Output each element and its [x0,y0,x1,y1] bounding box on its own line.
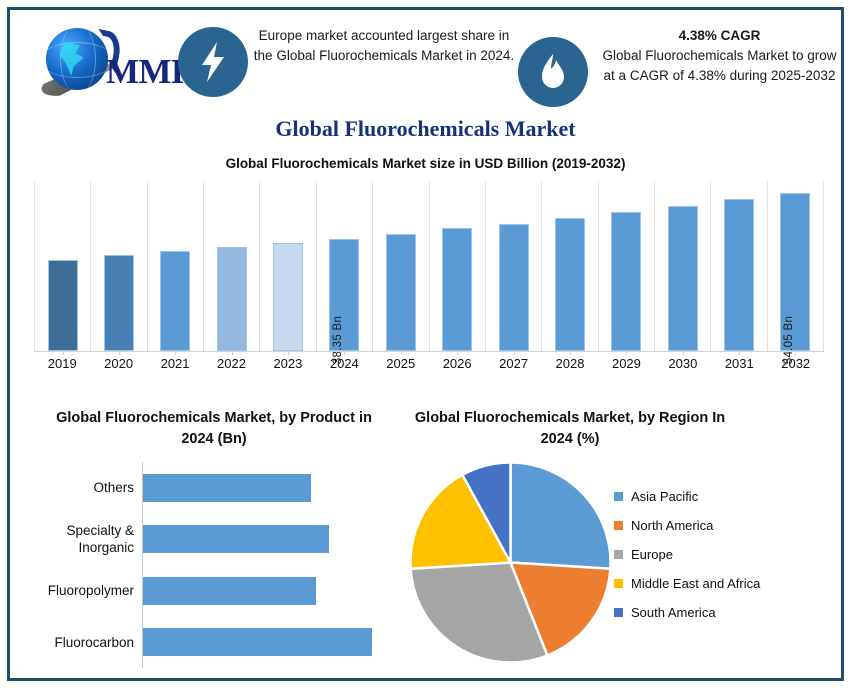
legend-label: North America [631,518,713,533]
bar-slot [654,181,710,351]
bar-x-tick-label: 2025 [373,356,429,378]
bar-slot [34,181,90,351]
legend-label: Europe [631,547,673,562]
product-bar-row: Fluorocarbon [143,628,372,656]
bar-slot [485,181,541,351]
bar[interactable] [217,247,247,351]
header: MMR Europe market accounted largest shar… [10,10,841,110]
product-bar-chart: OthersSpecialty & InorganicFluoropolymer… [142,462,392,668]
bar-slot: 54.05 Bn [767,181,824,351]
legend-label: South America [631,605,716,620]
bar-x-tick-label: 2031 [711,356,767,378]
bar-x-tick-label: 2028 [542,356,598,378]
region-legend: Asia PacificNorth AmericaEuropeMiddle Ea… [614,482,829,627]
bar[interactable] [386,234,416,351]
pie-slice[interactable] [511,463,611,569]
bar-x-tick-label: 2027 [485,356,541,378]
bar-slot [598,181,654,351]
bar[interactable] [555,218,585,351]
product-category-label: Others [24,479,134,496]
bar[interactable] [104,255,134,351]
bar-slot [372,181,428,351]
product-category-label: Fluoropolymer [24,582,134,599]
bar-slot [541,181,597,351]
bar-slot [429,181,485,351]
bar[interactable] [160,251,190,351]
market-size-bar-chart: 38.35 Bn54.05 Bn [34,180,824,352]
cagr-headline: 4.38% CAGR [598,26,841,46]
product-bar-row: Specialty & Inorganic [143,525,329,553]
legend-swatch-icon [614,521,623,530]
bar-slot [203,181,259,351]
bar-slot: 38.35 Bn [316,181,372,351]
region-chart-title: Global Fluorochemicals Market, by Region… [410,408,730,450]
bar-x-tick-label: 2032 [767,356,823,378]
legend-label: Asia Pacific [631,489,698,504]
bar-x-tick-label: 2022 [203,356,259,378]
legend-swatch-icon [614,492,623,501]
bar-slot [710,181,766,351]
bar-chart-x-labels: 2019202020212022202320242025202620272028… [34,356,824,378]
globe-landmass-icon [58,42,88,76]
product-category-label: Specialty & Inorganic [24,522,134,556]
legend-label: Middle East and Africa [631,576,760,591]
header-note-left: Europe market accounted largest share in… [253,26,515,66]
bar-chart-title: Global Fluorochemicals Market size in US… [10,156,841,171]
bar-x-tick-label: 2019 [34,356,90,378]
bar-x-tick-label: 2030 [655,356,711,378]
bar[interactable]: 38.35 Bn [329,239,359,351]
region-pie-chart [408,460,613,665]
mmr-logo: MMR [18,18,173,98]
bar-slot [147,181,203,351]
product-bar[interactable] [143,474,311,502]
bar-x-tick-label: 2026 [429,356,485,378]
bar-x-tick-label: 2024 [316,356,372,378]
cagr-description: Global Fluorochemicals Market to grow at… [602,48,836,83]
lightning-bolt-icon [178,27,248,97]
bar-chart-axis [34,351,824,352]
header-note-right: 4.38% CAGR Global Fluorochemicals Market… [598,26,841,86]
legend-item[interactable]: North America [614,511,829,540]
legend-item[interactable]: Middle East and Africa [614,569,829,598]
bar[interactable] [499,224,529,352]
bar[interactable] [48,260,78,351]
product-bar[interactable] [143,525,329,553]
bar-x-tick-label: 2020 [90,356,146,378]
legend-item[interactable]: South America [614,598,829,627]
product-bar[interactable] [143,628,372,656]
bar-slot [90,181,146,351]
product-bar-row: Fluoropolymer [143,577,316,605]
legend-swatch-icon [614,550,623,559]
product-bar[interactable] [143,577,316,605]
flame-icon [518,37,588,107]
bar[interactable]: 54.05 Bn [780,193,810,351]
bar-series: 38.35 Bn54.05 Bn [34,181,824,351]
infographic-frame: MMR Europe market accounted largest shar… [7,7,844,681]
product-chart-title: Global Fluorochemicals Market, by Produc… [38,408,390,450]
product-category-label: Fluorocarbon [24,634,134,651]
page-title: Global Fluorochemicals Market [10,116,841,142]
bar-x-tick-label: 2021 [147,356,203,378]
bar[interactable] [668,206,698,351]
legend-swatch-icon [614,579,623,588]
legend-item[interactable]: Asia Pacific [614,482,829,511]
legend-swatch-icon [614,608,623,617]
product-bar-row: Others [143,474,311,502]
bar-x-tick-label: 2023 [260,356,316,378]
bar-slot [259,181,315,351]
bar[interactable] [442,228,472,351]
pie-svg [408,460,613,665]
bar[interactable] [273,243,303,351]
bar[interactable] [611,212,641,351]
bar-x-tick-label: 2029 [598,356,654,378]
bar[interactable] [724,199,754,351]
legend-item[interactable]: Europe [614,540,829,569]
